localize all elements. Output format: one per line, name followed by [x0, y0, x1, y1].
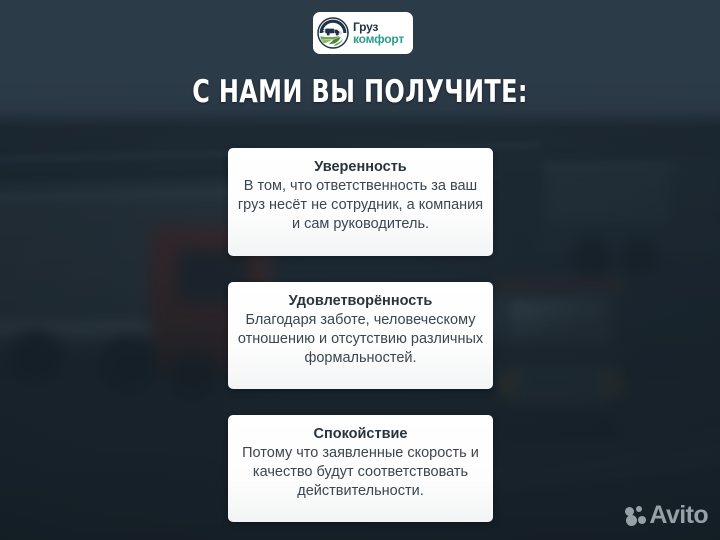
benefit-card-body: Потому что заявленные скорость и качеств…: [236, 444, 485, 501]
logo-word-bottom: комфорт: [353, 33, 404, 45]
logo-wordmark: Груз комфорт: [353, 21, 404, 45]
benefit-card-title: Удовлетворённость: [236, 292, 485, 310]
benefit-card-title: Уверенность: [236, 158, 485, 176]
benefit-card-body: В том, что ответственность за ваш груз н…: [236, 177, 485, 234]
avito-wordmark: Avito: [649, 503, 708, 528]
truck-in-circle-with-field-icon: [317, 17, 349, 49]
brand-logo[interactable]: Груз комфорт: [313, 12, 413, 54]
avito-dots-icon: [625, 506, 646, 526]
benefit-card-title: Спокойствие: [236, 425, 485, 443]
benefit-card: Спокойствие Потому что заявленные скорос…: [228, 415, 493, 522]
benefit-card: Уверенность В том, что ответственность з…: [228, 148, 493, 256]
promo-poster: Груз комфорт С НАМИ ВЫ ПОЛУЧИТЕ: Уверенн…: [0, 0, 720, 540]
page-title: С НАМИ ВЫ ПОЛУЧИТЕ:: [50, 73, 669, 111]
avito-watermark: Avito: [625, 503, 708, 528]
benefit-card: Удовлетворённость Благодаря заботе, чело…: [228, 282, 493, 389]
benefit-card-body: Благодаря заботе, человеческому отношени…: [236, 311, 485, 368]
